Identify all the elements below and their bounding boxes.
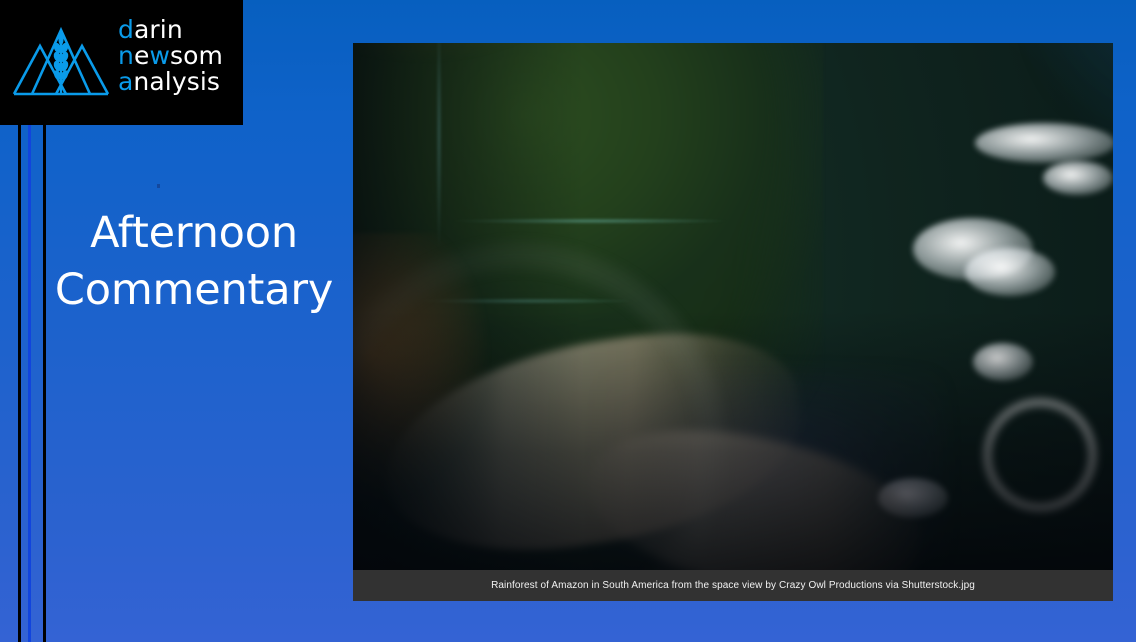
logo-darin-rest: arin bbox=[134, 15, 183, 44]
logo-darin-initial: d bbox=[118, 15, 134, 44]
earth-from-space-photo bbox=[353, 43, 1113, 570]
image-caption-bar: Rainforest of Amazon in South America fr… bbox=[353, 570, 1113, 601]
cloud-2 bbox=[965, 248, 1055, 296]
logo-analysis-rest: nalysis bbox=[133, 67, 220, 96]
background-speck bbox=[157, 184, 160, 188]
logo-analysis-initial: a bbox=[118, 67, 133, 96]
decor-stripe-black-1 bbox=[18, 125, 21, 642]
page-title: Afternoon Commentary bbox=[44, 205, 344, 319]
logo-newsom-rest: som bbox=[170, 41, 223, 70]
logo-box: darin newsom analysis bbox=[0, 0, 243, 125]
logo-newsom-n: n bbox=[118, 41, 134, 70]
logo-wordmark: darin newsom analysis bbox=[118, 17, 223, 94]
title-line-1: Afternoon bbox=[44, 205, 344, 262]
title-line-2: Commentary bbox=[44, 262, 344, 319]
logo-line-analysis: analysis bbox=[118, 69, 223, 95]
picture-frame: Rainforest of Amazon in South America fr… bbox=[353, 43, 1113, 601]
logo-newsom-w: w bbox=[149, 41, 170, 70]
terminator-bottom-shadow bbox=[353, 310, 1113, 570]
image-caption-text: Rainforest of Amazon in South America fr… bbox=[491, 580, 975, 591]
cloud-4 bbox=[975, 123, 1113, 163]
decor-stripe-black-2 bbox=[43, 125, 46, 642]
logo-newsom-e: e bbox=[134, 41, 149, 70]
logo-line-newsom: newsom bbox=[118, 43, 223, 69]
logo-line-darin: darin bbox=[118, 17, 223, 43]
slide-canvas: darin newsom analysis Afternoon Commenta… bbox=[0, 0, 1136, 642]
three-mountains-wheat-icon bbox=[12, 26, 112, 101]
decor-stripe-blue-1 bbox=[28, 125, 31, 642]
cloud-3 bbox=[1043, 161, 1113, 195]
